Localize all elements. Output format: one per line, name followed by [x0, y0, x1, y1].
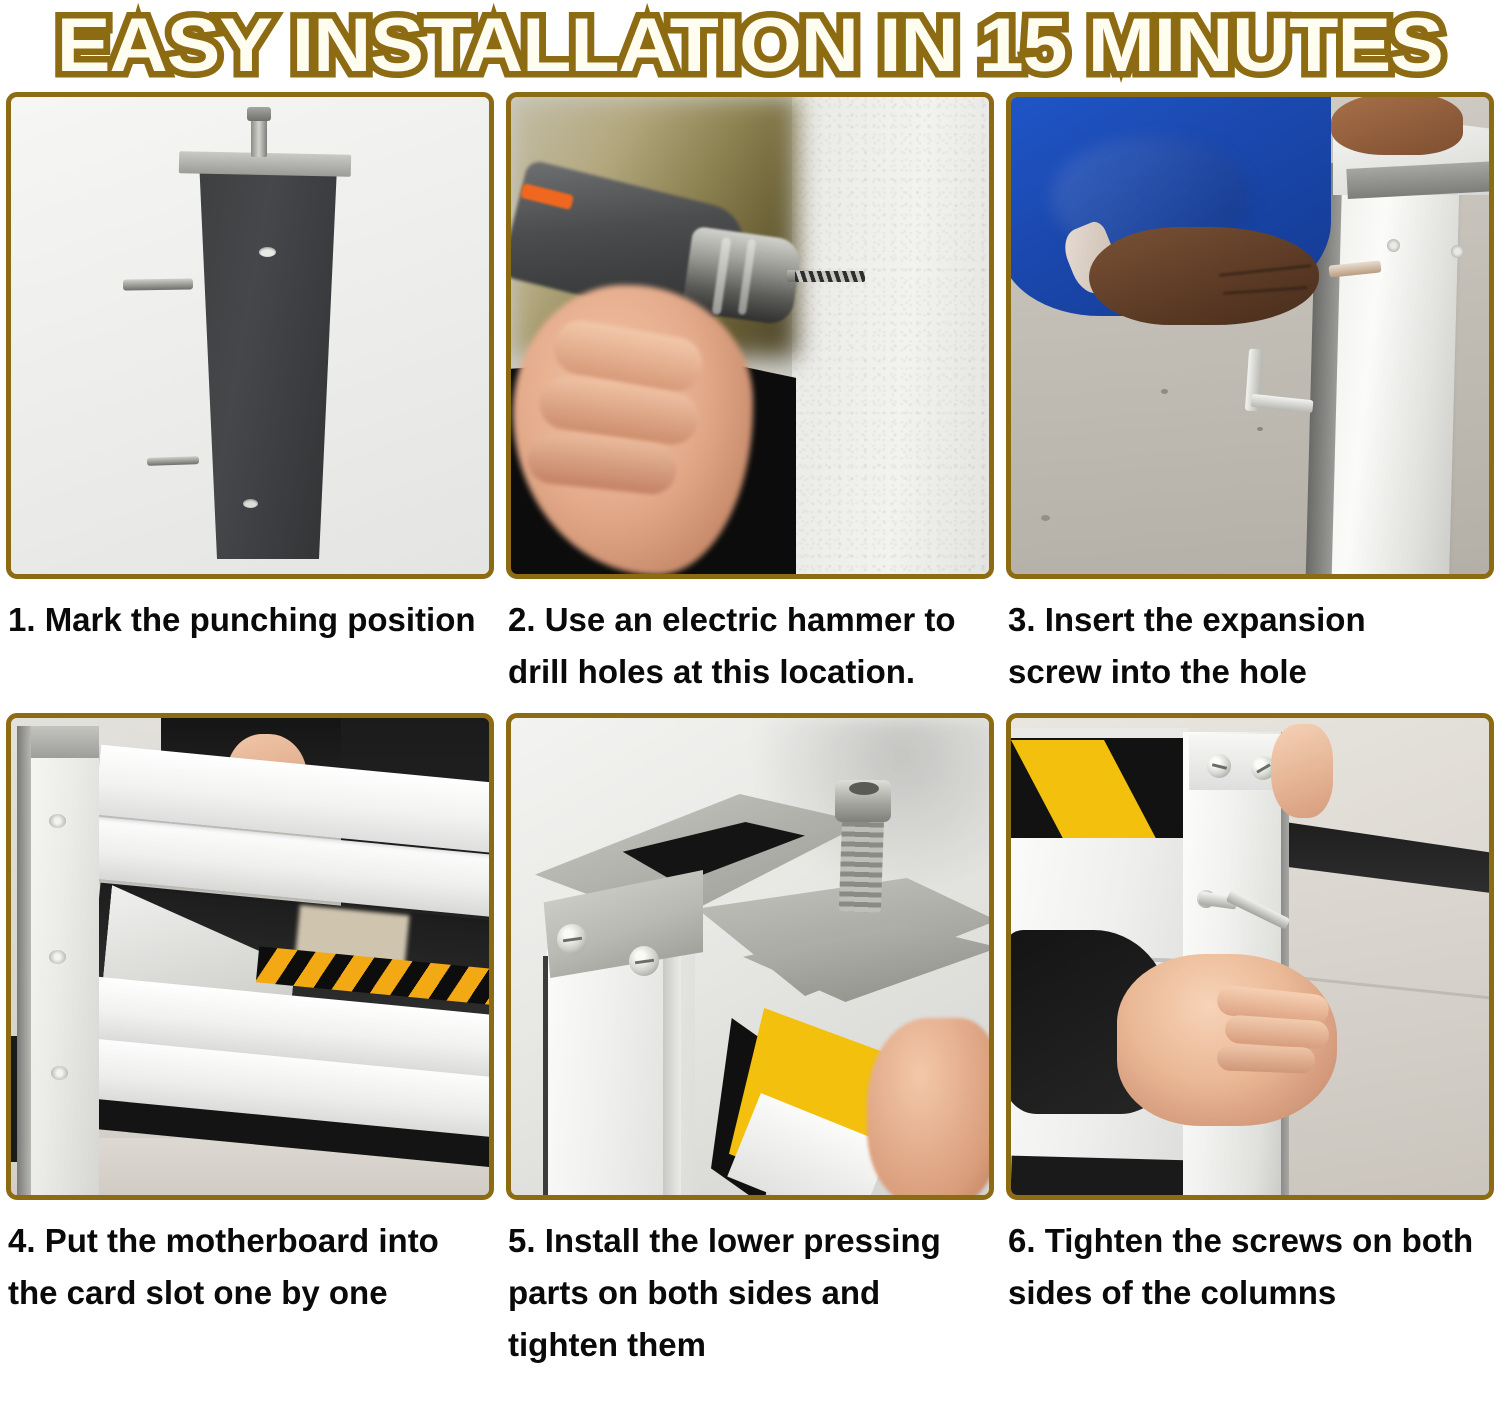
step-2-caption: 2. Use an electric hammer to drill holes…	[500, 579, 1000, 713]
step-4-caption: 4. Put the motherboard into the card slo…	[0, 1200, 500, 1350]
step-3-photo-frame	[1006, 92, 1494, 579]
column-post-cap	[29, 726, 99, 758]
mounting-hole-upper	[259, 247, 276, 257]
floor-speck-3	[1041, 515, 1050, 521]
bolt-socket-bore	[849, 782, 879, 795]
step-2-photo-frame	[506, 92, 994, 579]
step-5-caption: 5. Install the lower pressing parts on b…	[500, 1200, 1000, 1350]
page-title: EASY INSTALLATION IN 15 MINUTES	[57, 8, 1443, 84]
step-1-photo-frame	[6, 92, 494, 579]
step-4-photo-frame	[6, 713, 494, 1200]
thumb	[1271, 724, 1333, 818]
column-groove	[663, 950, 681, 1195]
post-screw-3	[51, 1066, 68, 1080]
marking-pin-upper	[123, 278, 193, 290]
photo-column-base-plate	[11, 97, 489, 574]
floor-speck-1	[1161, 389, 1168, 394]
header-banner: EASY INSTALLATION IN 15 MINUTES	[0, 0, 1500, 92]
photo-drilling-wall	[511, 97, 989, 574]
column-post-edge	[17, 726, 31, 1195]
top-bolt-head	[247, 107, 271, 121]
second-hand	[1331, 97, 1463, 155]
column-edge-line	[543, 956, 548, 1195]
photo-card-slot	[11, 718, 489, 1195]
photo-pressing-part	[511, 718, 989, 1195]
mounting-hole-lower	[243, 499, 258, 508]
panel-bottom-dark	[1011, 1156, 1190, 1195]
column-screw-1	[1387, 239, 1400, 252]
column-screw-2	[1451, 245, 1464, 258]
worker-arm	[1089, 227, 1319, 325]
hand	[867, 1018, 989, 1195]
photo-tighten-screws	[1011, 718, 1489, 1195]
floor-speck-2	[1257, 427, 1263, 431]
step-3-caption: 3. Insert the expansion screw into the h…	[1000, 579, 1500, 713]
photo-expansion-screw	[1011, 97, 1489, 574]
step-1-caption: 1. Mark the punching position	[0, 579, 500, 713]
post-screw-1	[49, 814, 66, 828]
step-card-1: 1. Mark the punching position	[0, 92, 500, 713]
step-card-5: 5. Install the lower pressing parts on b…	[500, 713, 1000, 1350]
textured-wall	[792, 97, 989, 574]
step-card-3: 3. Insert the expansion screw into the h…	[1000, 92, 1500, 713]
step-card-4: 4. Put the motherboard into the card slo…	[0, 713, 500, 1350]
step-6-photo-frame	[1006, 713, 1494, 1200]
step-card-2: 2. Use an electric hammer to drill holes…	[500, 92, 1000, 713]
finger-3	[1217, 1044, 1316, 1073]
step-card-6: 6. Tighten the screws on both sides of t…	[1000, 713, 1500, 1350]
drill-bit	[795, 271, 865, 282]
step-5-photo-frame	[506, 713, 994, 1200]
post-screw-2	[49, 950, 66, 964]
step-6-caption: 6. Tighten the screws on both sides of t…	[1000, 1200, 1500, 1350]
installation-steps-grid: 1. Mark the punching position	[0, 92, 1500, 1350]
